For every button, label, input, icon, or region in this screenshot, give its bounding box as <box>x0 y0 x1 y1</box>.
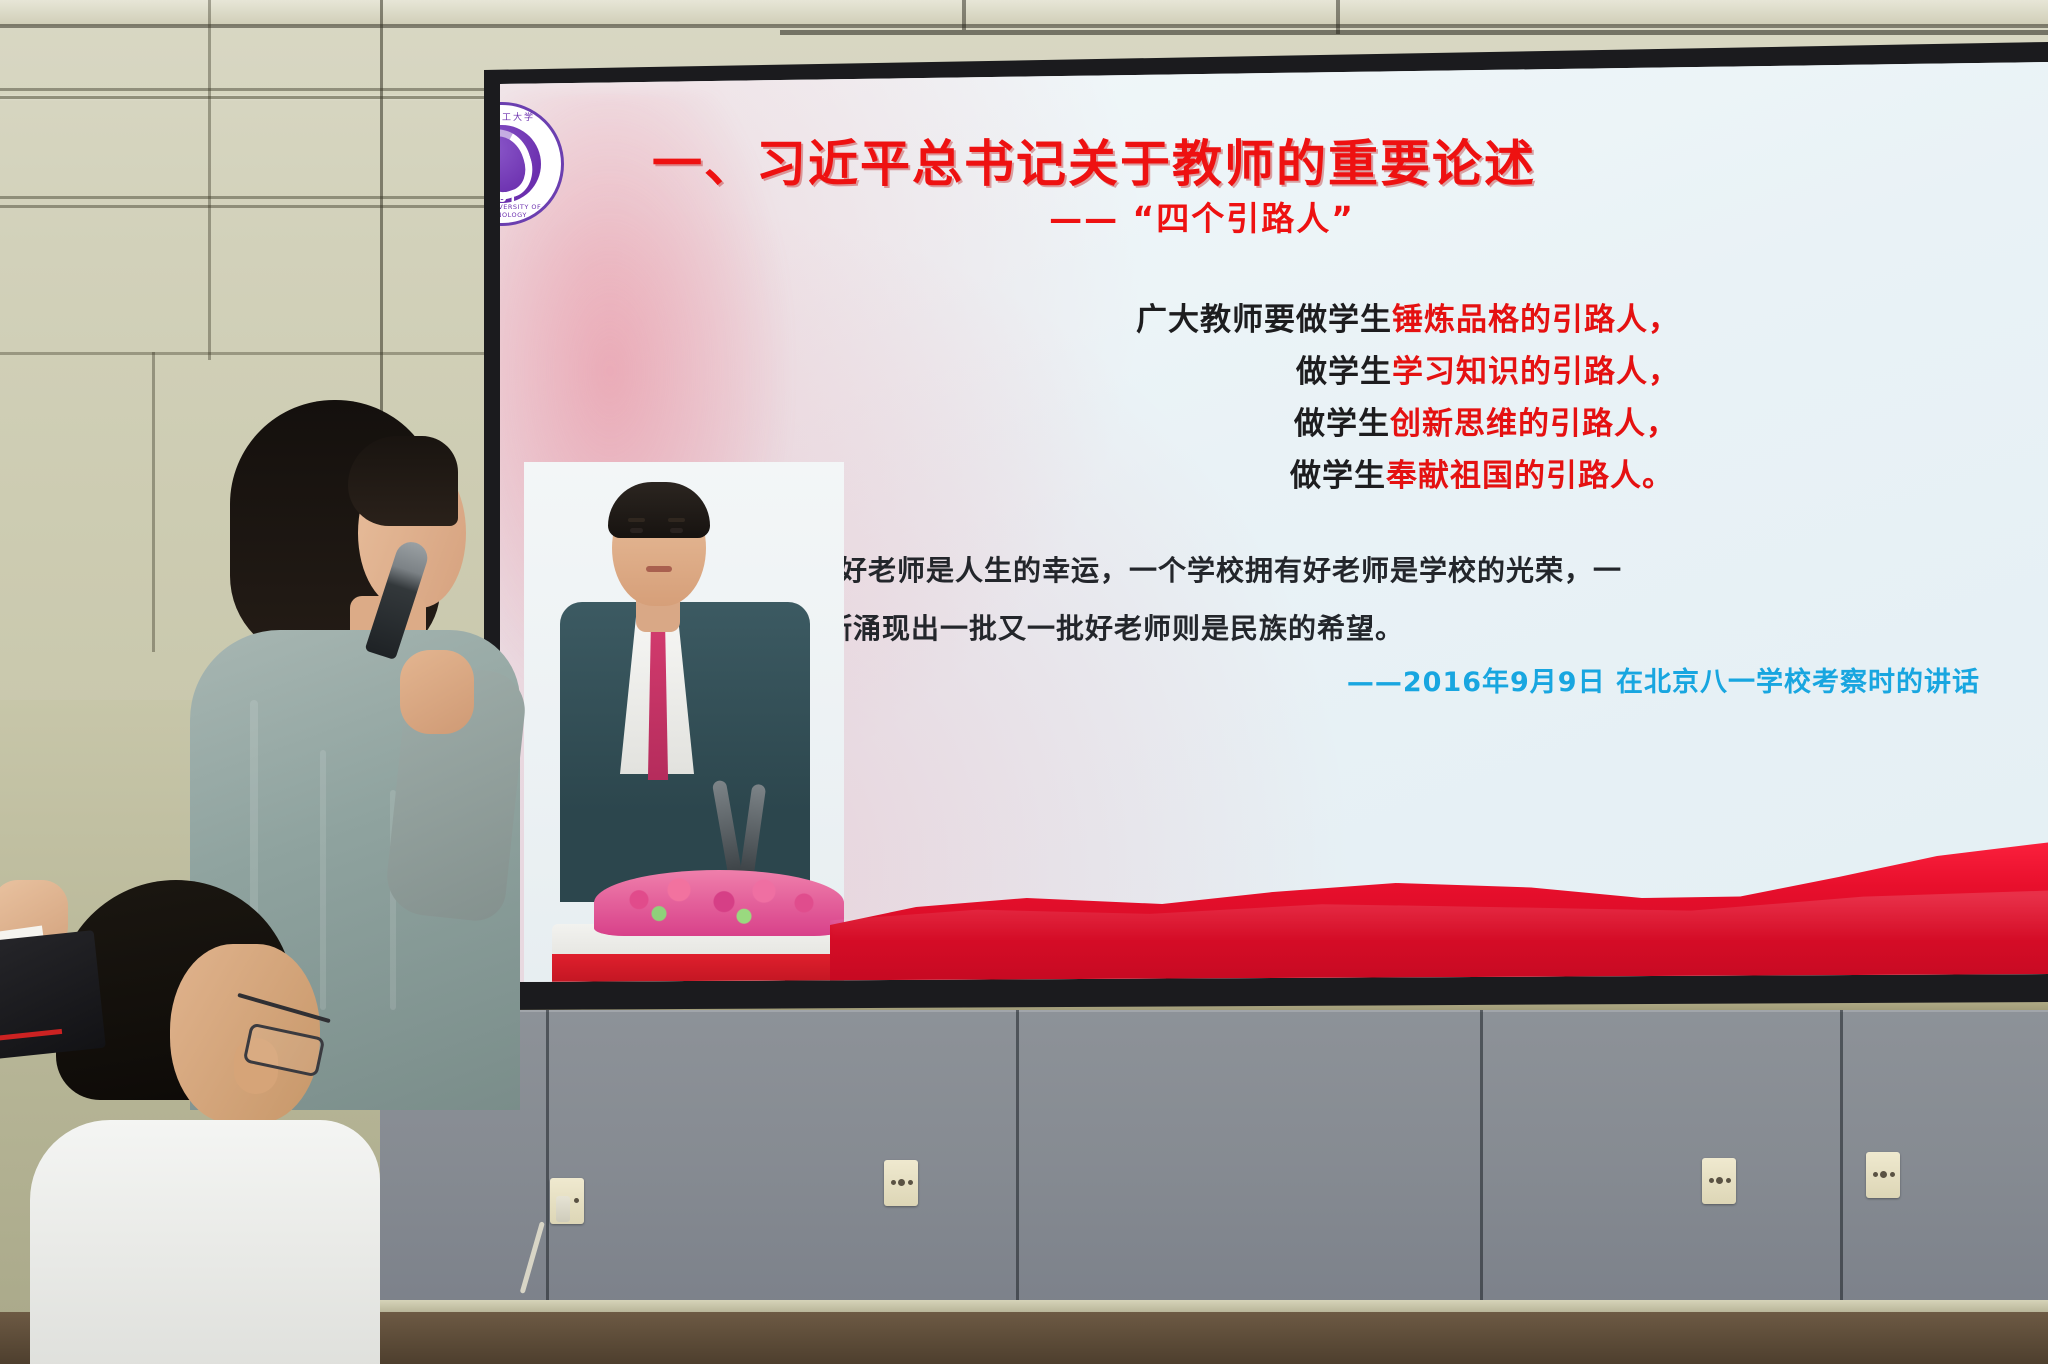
bullet-lead: 广大教师要做学生 <box>1136 302 1392 338</box>
laptop-accent-stripe <box>0 1029 62 1041</box>
speaker-eyebrow <box>668 518 685 522</box>
presentation-slide: 西安理工大学 XUT 1949 XI'AN UNIVERSITY OF TECH… <box>500 62 2048 982</box>
bullet-line: 做学生创新思维的引路人， <box>620 398 1800 450</box>
outlet-hole <box>1716 1177 1723 1184</box>
power-outlet-right-2[interactable] <box>1866 1152 1900 1198</box>
wall-groove <box>0 352 520 355</box>
wall-groove <box>0 196 560 199</box>
panel-seam <box>1480 1010 1483 1310</box>
laptop-device <box>0 930 106 1060</box>
logo-english-name: XI'AN UNIVERSITY OF TECHNOLOGY <box>500 203 561 219</box>
outlet-hole <box>1873 1172 1878 1177</box>
switch-hole <box>891 1180 896 1185</box>
speaker-eye <box>630 528 643 533</box>
presenter-hand <box>400 650 474 734</box>
screenshot-root: 西安理工大学 XUT 1949 XI'AN UNIVERSITY OF TECH… <box>0 0 2048 1364</box>
bullet-highlight: 创新思维的引路人， <box>1390 406 1678 442</box>
logo-chinese-name: 西安理工大学 <box>500 110 561 123</box>
bullet-highlight: 锤炼品格的引路人， <box>1392 302 1680 338</box>
bullet-highlight: 奉献祖国的引路人。 <box>1386 458 1674 494</box>
slide-title: 一、习近平总书记关于教师的重要论述 <box>652 124 1952 196</box>
wall-switch-center[interactable] <box>884 1160 918 1206</box>
wall-groove <box>0 96 560 99</box>
outlet-hole <box>574 1198 579 1203</box>
bullet-lead: 做学生 <box>1294 406 1390 442</box>
speaker-eyebrow <box>628 518 645 522</box>
quote-line-1: 一个人遇到好老师是人生的幸运，一个学校拥有好老师是学校的光荣，一 <box>650 542 1980 600</box>
ceiling-joint-a <box>962 0 966 30</box>
speaker-mouth <box>646 566 672 572</box>
slide-subtitle: —— “四个引路人” <box>652 192 1752 240</box>
university-logo: 西安理工大学 XUT 1949 XI'AN UNIVERSITY OF TECH… <box>500 102 564 226</box>
presenter-hair-front <box>348 436 458 526</box>
logo-inner-disc: XUT 1949 <box>500 125 541 203</box>
outlet-hole <box>1890 1172 1895 1177</box>
wainscot-panels <box>380 1010 2048 1310</box>
switch-hole <box>908 1180 913 1185</box>
wall-seam-vertical <box>152 352 155 652</box>
wall-groove <box>0 88 560 91</box>
quote-line-2: 个民族源源不断涌现出一批又一批好老师则是民族的希望。 <box>650 600 1980 658</box>
plug-icon <box>556 1196 570 1222</box>
quote-attribution: ——2016年9月9日 在北京八一学校考察时的讲话 <box>650 660 1980 699</box>
bullet-line: 做学生学习知识的引路人， <box>620 346 1800 398</box>
quotation-block: 一个人遇到好老师是人生的幸运，一个学校拥有好老师是学校的光荣，一 个民族源源不断… <box>650 542 1980 658</box>
wall-groove <box>0 205 560 208</box>
speaker-eye <box>670 528 683 533</box>
outlet-hole <box>1709 1178 1714 1183</box>
bullet-lead: 做学生 <box>1290 458 1386 494</box>
bullet-lead: 做学生 <box>1296 354 1392 390</box>
flower-arrangement <box>594 870 844 936</box>
wall-seam-vertical <box>208 0 211 360</box>
ceiling-seam <box>0 24 2048 28</box>
outlet-hole <box>1880 1171 1887 1178</box>
power-outlet-right-1[interactable] <box>1702 1158 1736 1204</box>
bullet-line: 广大教师要做学生锤炼品格的引路人， <box>620 294 1800 346</box>
switch-hole <box>898 1179 905 1186</box>
panel-seam <box>1840 1010 1843 1310</box>
panel-seam <box>1016 1010 1019 1310</box>
outlet-hole <box>1726 1178 1731 1183</box>
bullet-highlight: 学习知识的引路人， <box>1392 354 1680 390</box>
ceiling-seam-right <box>780 30 2048 35</box>
led-video-wall[interactable]: 西安理工大学 XUT 1949 XI'AN UNIVERSITY OF TECH… <box>500 62 2048 982</box>
ceiling-joint-b <box>1336 0 1340 34</box>
ceiling-strip <box>0 0 2048 26</box>
listener-shirt <box>30 1120 380 1364</box>
